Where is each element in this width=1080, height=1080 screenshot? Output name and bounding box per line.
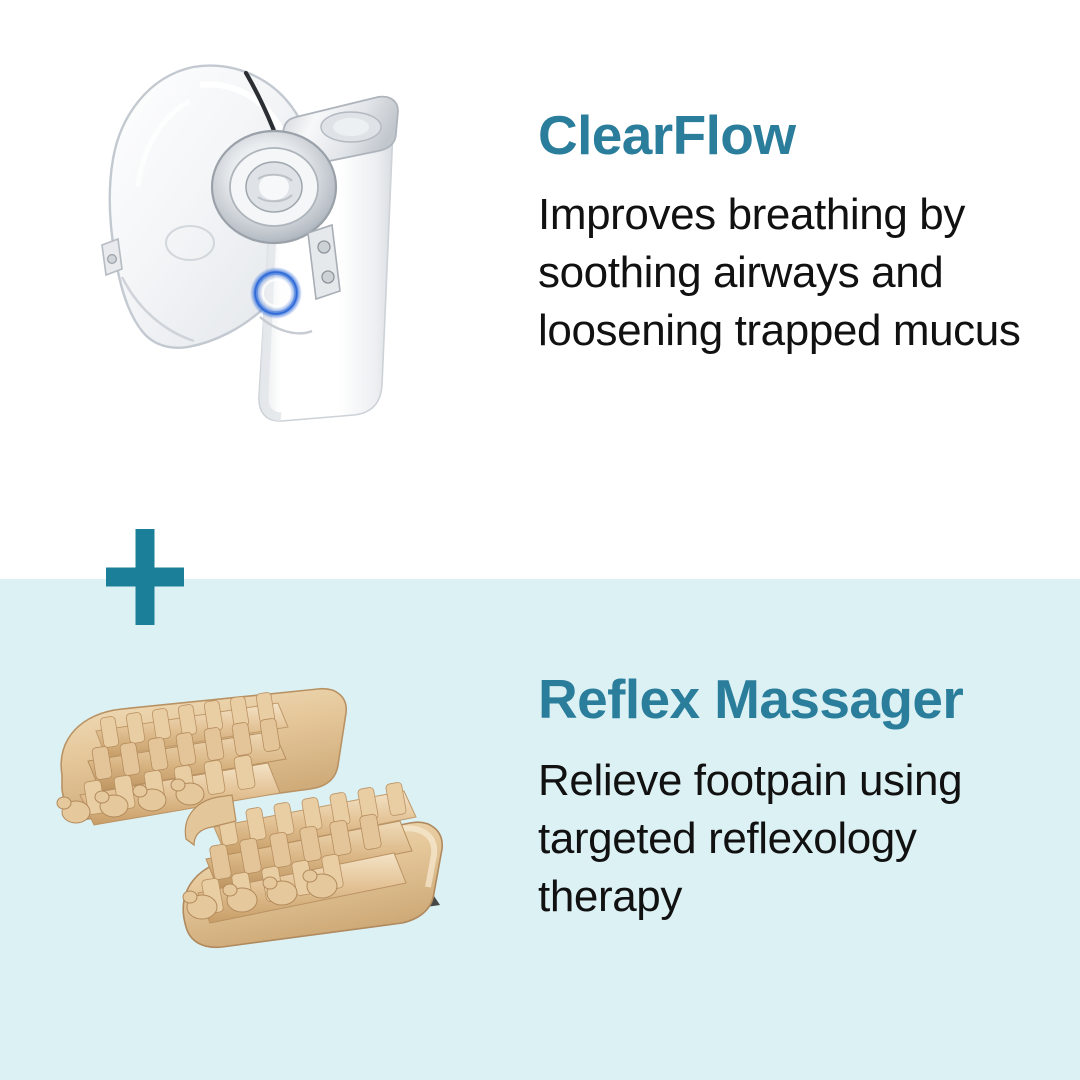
foot-roller-massager-icon [30,675,460,960]
product-description-clearflow: Improves breathing by soothing airways a… [538,166,1038,360]
reflex-massager-text-block: Reflex Massager Relieve footpain using t… [538,668,1038,926]
product-title-reflex-massager: Reflex Massager [538,668,1038,730]
clearflow-text-block: ClearFlow Improves breathing by soothing… [538,104,1038,360]
product-infographic: ClearFlow Improves breathing by soothing… [0,0,1080,1080]
plus-icon [106,529,184,625]
product-title-clearflow: ClearFlow [538,104,1038,166]
product-description-reflex-massager: Relieve footpain using targeted reflexol… [538,730,1038,926]
nebulizer-icon [60,55,430,455]
